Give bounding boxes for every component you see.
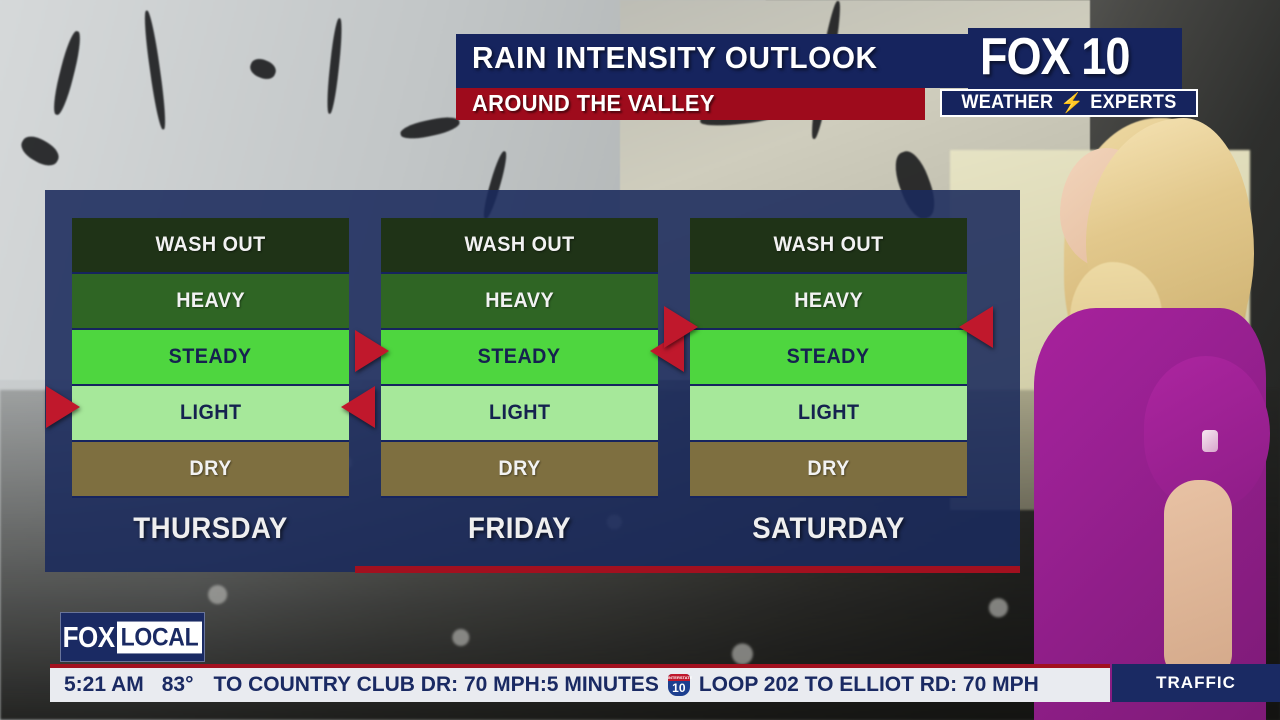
intensity-band-label: LIGHT (798, 401, 860, 425)
page-subtitle: AROUND THE VALLEY (472, 90, 715, 117)
day-label: THURSDAY (83, 512, 338, 546)
intensity-band-dry: DRY (381, 442, 658, 498)
forecast-column-saturday: WASH OUTHEAVYSTEADYLIGHTDRYSATURDAY (690, 218, 967, 548)
intensity-band-label: WASH OUT (464, 233, 574, 257)
fox10-logo-text: FOX 10 (980, 26, 1129, 86)
intensity-band-label: STEADY (787, 345, 870, 369)
shield-number: 10 (668, 680, 690, 696)
intensity-band-label: DRY (807, 457, 849, 481)
talent-arm (1164, 480, 1232, 680)
intensity-band-label: WASH OUT (773, 233, 883, 257)
intensity-band-label: LIGHT (180, 401, 242, 425)
intensity-band-washout: WASH OUT (690, 218, 967, 274)
intensity-band-label: LIGHT (489, 401, 551, 425)
intensity-band-label: HEAVY (485, 289, 554, 313)
ticker-message: TO COUNTRY CLUB DR: 70 MPH:5 MINUTES INT… (194, 673, 1039, 697)
intensity-band-light: LIGHT (72, 386, 349, 442)
fox-local-bug: FOX LOCAL (60, 612, 205, 662)
intensity-band-washout: WASH OUT (381, 218, 658, 274)
ticker-message-part2: LOOP 202 TO ELLIOT RD: 70 MPH (699, 673, 1039, 697)
intensity-band-washout: WASH OUT (72, 218, 349, 274)
talent-brooch (1202, 430, 1218, 452)
traffic-label: TRAFFIC (1156, 673, 1236, 693)
intensity-band-dry: DRY (690, 442, 967, 498)
day-label: SATURDAY (701, 512, 956, 546)
intensity-band-label: WASH OUT (155, 233, 265, 257)
intensity-scale: WASH OUTHEAVYSTEADYLIGHTDRY (72, 218, 349, 498)
weather-label: WEATHER (962, 92, 1054, 114)
intensity-band-dry: DRY (72, 442, 349, 498)
experts-label: EXPERTS (1090, 92, 1176, 114)
traffic-tab: TRAFFIC (1112, 664, 1280, 702)
intensity-band-steady: STEADY (690, 330, 967, 386)
intensity-band-light: LIGHT (690, 386, 967, 442)
traffic-ticker: 5:21 AM 83° TO COUNTRY CLUB DR: 70 MPH:5… (50, 668, 1110, 702)
panel-red-accent (355, 566, 1020, 573)
intensity-band-label: HEAVY (176, 289, 245, 313)
weather-experts-banner: WEATHER ⚡ EXPERTS (940, 89, 1198, 117)
forecast-column-friday: WASH OUTHEAVYSTEADYLIGHTDRYFRIDAY (381, 218, 658, 548)
forecast-column-thursday: WASH OUTHEAVYSTEADYLIGHTDRYTHURSDAY (72, 218, 349, 548)
forecast-columns: WASH OUTHEAVYSTEADYLIGHTDRYTHURSDAYWASH … (72, 218, 997, 548)
intensity-band-light: LIGHT (381, 386, 658, 442)
interstate-10-shield-icon: INTERSTATE 10 (668, 674, 690, 696)
intensity-band-label: DRY (189, 457, 231, 481)
meteorologist (1012, 112, 1280, 720)
intensity-band-label: STEADY (169, 345, 252, 369)
fox-local-local-text: LOCAL (117, 621, 203, 653)
ticker-time: 5:21 AM (50, 673, 144, 697)
ticker-message-part1: TO COUNTRY CLUB DR: 70 MPH:5 MINUTES (214, 673, 659, 697)
intensity-band-heavy: HEAVY (690, 274, 967, 330)
day-label: FRIDAY (392, 512, 647, 546)
lightning-bolt-icon: ⚡ (1058, 91, 1086, 115)
broadcast-stage: RAIN INTENSITY OUTLOOK AROUND THE VALLEY… (0, 0, 1280, 720)
ticker-temperature: 83° (144, 673, 194, 697)
intensity-band-label: HEAVY (794, 289, 863, 313)
intensity-band-heavy: HEAVY (381, 274, 658, 330)
intensity-band-label: STEADY (478, 345, 561, 369)
intensity-scale: WASH OUTHEAVYSTEADYLIGHTDRY (381, 218, 658, 498)
page-title: RAIN INTENSITY OUTLOOK (472, 40, 878, 76)
intensity-band-steady: STEADY (381, 330, 658, 386)
fox-local-fox-text: FOX (63, 620, 115, 655)
intensity-scale: WASH OUTHEAVYSTEADYLIGHTDRY (690, 218, 967, 498)
intensity-band-heavy: HEAVY (72, 274, 349, 330)
intensity-band-label: DRY (498, 457, 540, 481)
intensity-band-steady: STEADY (72, 330, 349, 386)
